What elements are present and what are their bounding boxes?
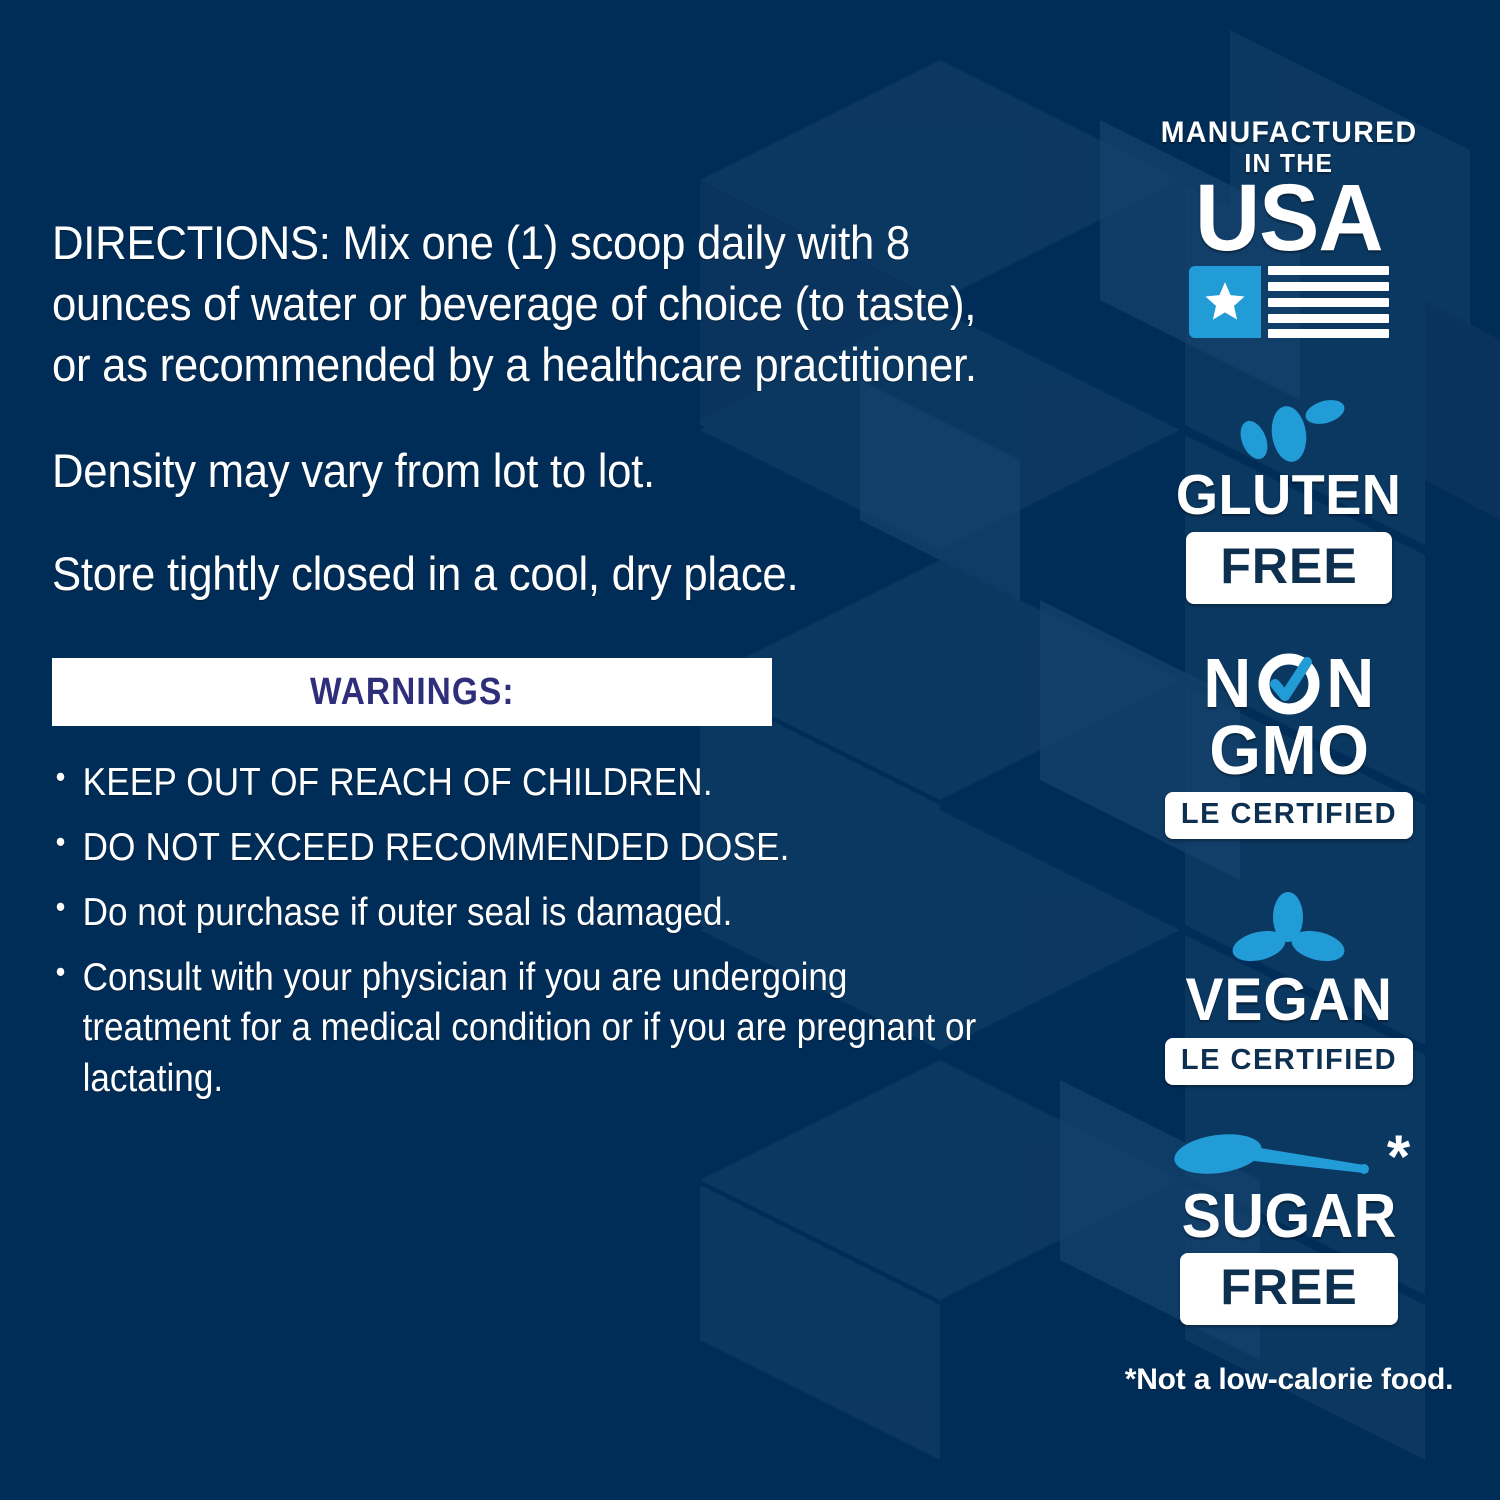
wheat-leaves-icon bbox=[1229, 390, 1349, 468]
spoon-icon bbox=[1168, 1127, 1373, 1187]
vegan-word: VEGAN bbox=[1185, 971, 1392, 1030]
three-leaf-plant-icon bbox=[1221, 889, 1356, 971]
non-gmo-word-row: N N bbox=[1202, 650, 1376, 718]
density-paragraph: Density may vary from lot to lot. bbox=[52, 440, 1024, 501]
flag-stripes bbox=[1261, 266, 1389, 338]
badge-manufactured-in-usa: MANUFACTURED IN THE USA bbox=[1154, 118, 1424, 338]
warning-item: Consult with your physician if you are u… bbox=[52, 953, 993, 1105]
warnings-title: WARNINGS: bbox=[310, 671, 515, 714]
usa-flag-icon bbox=[1189, 266, 1389, 338]
footnote-text: *Not a low-calorie food. bbox=[1125, 1363, 1454, 1397]
badge-non-gmo: N N GMO LE CERTIFIED bbox=[1165, 650, 1413, 839]
non-gmo-word-gmo: GMO bbox=[1209, 718, 1369, 784]
usa-badge-line3: USA bbox=[1195, 175, 1383, 262]
gluten-free-pill: FREE bbox=[1186, 532, 1391, 604]
flag-canton bbox=[1189, 266, 1261, 338]
sugar-free-icon-row: * bbox=[1168, 1127, 1410, 1187]
warning-item: Do not purchase if outer seal is damaged… bbox=[52, 888, 993, 939]
non-gmo-pill: LE CERTIFIED bbox=[1165, 792, 1413, 839]
sugar-free-word: SUGAR bbox=[1181, 1187, 1396, 1248]
non-gmo-letter-n-left: N bbox=[1203, 651, 1252, 717]
supplement-label-panel: DIRECTIONS: Mix one (1) scoop daily with… bbox=[0, 0, 1500, 1500]
warnings-header-box: WARNINGS: bbox=[52, 658, 772, 726]
warnings-list: KEEP OUT OF REACH OF CHILDREN. DO NOT EX… bbox=[52, 758, 1097, 1104]
star-icon bbox=[1202, 279, 1248, 325]
sugar-free-pill: FREE bbox=[1180, 1253, 1397, 1325]
badge-sugar-free: * SUGAR FREE bbox=[1168, 1127, 1410, 1326]
storage-paragraph: Store tightly closed in a cool, dry plac… bbox=[52, 543, 1024, 604]
certification-badges-column: MANUFACTURED IN THE USA bbox=[1124, 118, 1454, 1397]
check-in-circle-icon bbox=[1255, 650, 1323, 718]
warning-item: DO NOT EXCEED RECOMMENDED DOSE. bbox=[52, 823, 993, 874]
vegan-pill: LE CERTIFIED bbox=[1165, 1038, 1413, 1085]
flag-stripe bbox=[1268, 298, 1389, 307]
usa-badge-line1: MANUFACTURED bbox=[1161, 118, 1418, 147]
warning-item: KEEP OUT OF REACH OF CHILDREN. bbox=[52, 758, 993, 809]
badge-vegan: VEGAN LE CERTIFIED bbox=[1165, 889, 1413, 1085]
gluten-free-word: GLUTEN bbox=[1176, 468, 1401, 524]
flag-stripe bbox=[1268, 282, 1389, 291]
badge-gluten-free: GLUTEN FREE bbox=[1170, 390, 1407, 604]
directions-paragraph: DIRECTIONS: Mix one (1) scoop daily with… bbox=[52, 212, 1024, 395]
flag-stripe bbox=[1268, 314, 1389, 323]
label-text-column: DIRECTIONS: Mix one (1) scoop daily with… bbox=[52, 212, 1097, 1119]
flag-stripe bbox=[1268, 329, 1389, 338]
sugar-free-asterisk: * bbox=[1387, 1139, 1410, 1175]
non-gmo-letter-n-right: N bbox=[1326, 651, 1375, 717]
